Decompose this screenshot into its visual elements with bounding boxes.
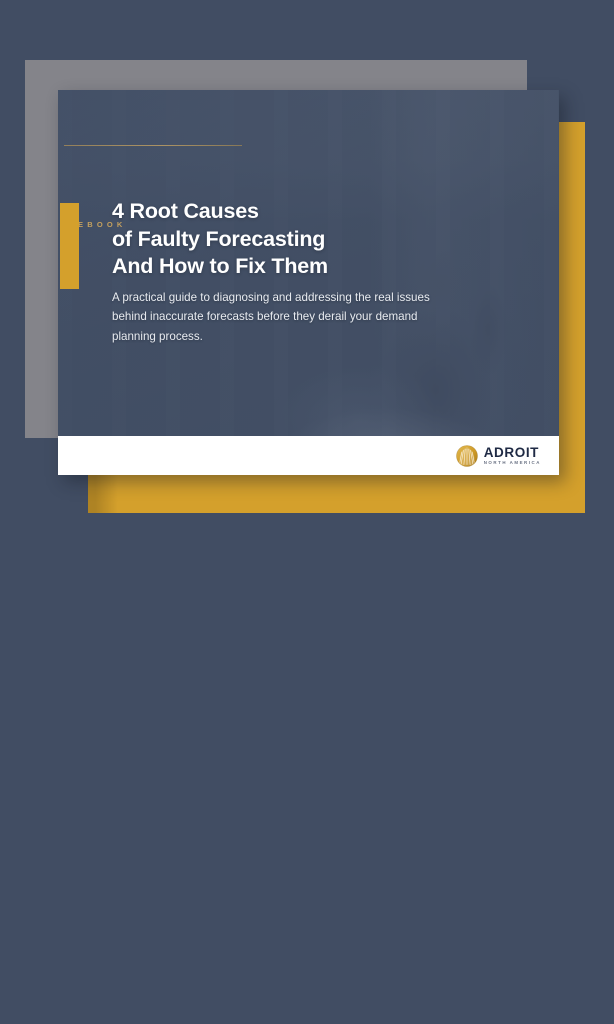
ebook-cover-card: EBOOK 4 Root Causes of Faulty Forecastin… [58, 90, 559, 475]
cover-title-line-1: 4 Root Causes [112, 198, 452, 226]
cover-subtitle: A practical guide to diagnosing and addr… [112, 288, 462, 346]
adroit-fan-mark-icon [456, 445, 478, 467]
cover-title-line-3: And How to Fix Them [112, 253, 452, 281]
cover-title-line-2: of Faulty Forecasting [112, 226, 452, 254]
logo-name: ADROIT [484, 446, 541, 460]
eyebrow-divider-rule [64, 145, 242, 146]
logo-tagline: NORTH AMERICA [484, 461, 541, 465]
ebook-cover-stage: EBOOK 4 Root Causes of Faulty Forecastin… [0, 0, 614, 1024]
gold-accent-bar [60, 203, 79, 289]
cover-footer-bar: ADROIT NORTH AMERICA [58, 436, 559, 475]
cover-title: 4 Root Causes of Faulty Forecasting And … [112, 198, 452, 281]
logo-wordmark: ADROIT NORTH AMERICA [484, 446, 541, 465]
brand-logo: ADROIT NORTH AMERICA [456, 445, 541, 467]
cover-content: EBOOK 4 Root Causes of Faulty Forecastin… [58, 90, 559, 475]
